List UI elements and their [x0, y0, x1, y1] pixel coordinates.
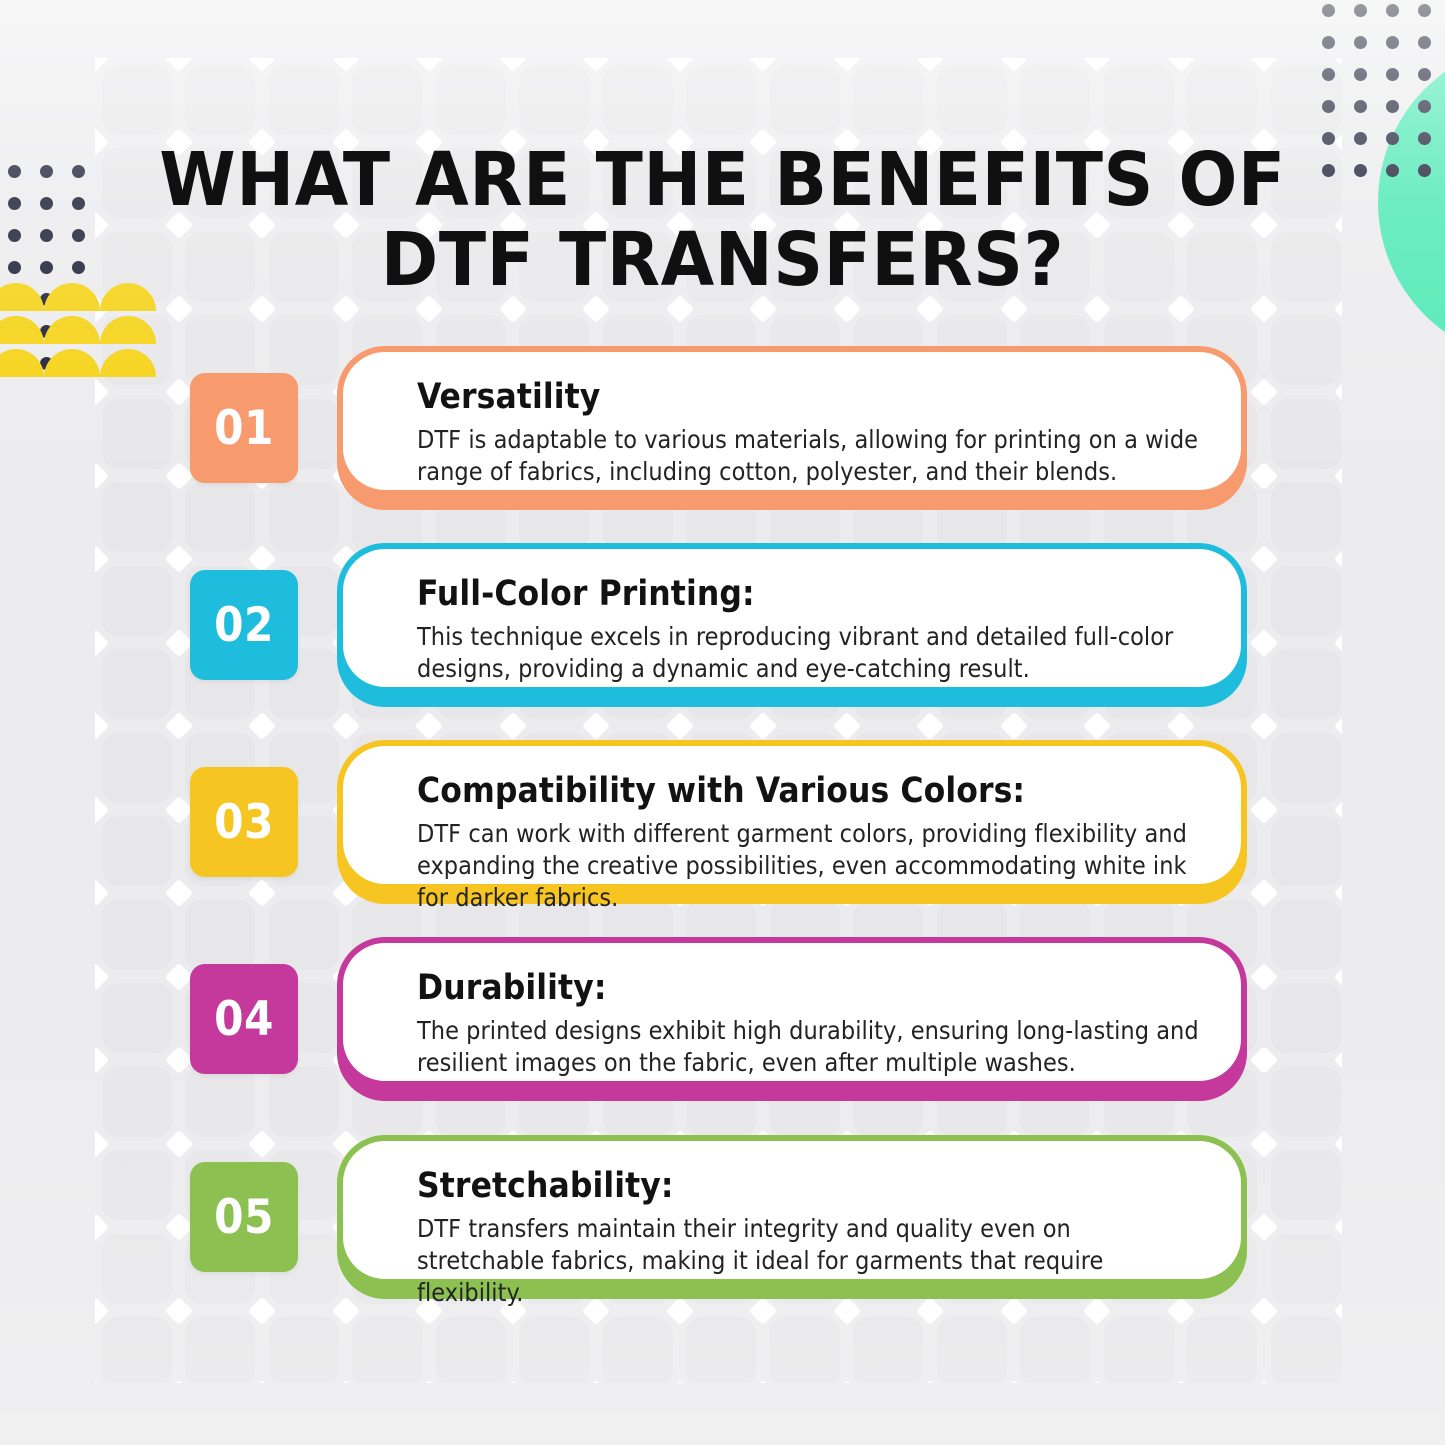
benefit-description: DTF transfers maintain their integrity a… — [417, 1213, 1201, 1309]
step-number-badge-02[interactable]: 02 — [190, 570, 298, 680]
benefit-row-02: 02Full-Color Printing:This technique exc… — [0, 543, 1445, 723]
benefit-title: Versatility — [417, 376, 1201, 418]
benefit-title: Full-Color Printing: — [417, 573, 1201, 615]
benefit-description: This technique excels in reproducing vib… — [417, 621, 1201, 685]
infographic-poster: WHAT ARE THE BENEFITS OF DTF TRANSFERS? … — [0, 0, 1445, 1445]
step-number-badge-04[interactable]: 04 — [190, 964, 298, 1074]
benefit-card-02[interactable]: Full-Color Printing:This technique excel… — [337, 543, 1247, 693]
benefit-row-01: 01VersatilityDTF is adaptable to various… — [0, 346, 1445, 526]
benefit-row-03: 03Compatibility with Various Colors:DTF … — [0, 740, 1445, 920]
benefit-card-03[interactable]: Compatibility with Various Colors:DTF ca… — [337, 740, 1247, 890]
benefit-description: DTF is adaptable to various materials, a… — [417, 424, 1201, 488]
step-number-badge-03[interactable]: 03 — [190, 767, 298, 877]
step-number-label: 03 — [214, 795, 274, 850]
benefit-row-04: 04Durability:The printed designs exhibit… — [0, 937, 1445, 1117]
benefit-description: The printed designs exhibit high durabil… — [417, 1015, 1201, 1079]
benefit-description: DTF can work with different garment colo… — [417, 818, 1201, 914]
benefit-card-list: 01VersatilityDTF is adaptable to various… — [0, 0, 1445, 1445]
step-number-badge-01[interactable]: 01 — [190, 373, 298, 483]
step-number-label: 05 — [214, 1190, 274, 1245]
step-number-badge-05[interactable]: 05 — [190, 1162, 298, 1272]
benefit-title: Compatibility with Various Colors: — [417, 770, 1201, 812]
benefit-card-01[interactable]: VersatilityDTF is adaptable to various m… — [337, 346, 1247, 496]
step-number-label: 04 — [214, 992, 274, 1047]
benefit-title: Stretchability: — [417, 1165, 1201, 1207]
benefit-card-05[interactable]: Stretchability:DTF transfers maintain th… — [337, 1135, 1247, 1285]
step-number-label: 02 — [214, 598, 274, 653]
benefit-row-05: 05Stretchability:DTF transfers maintain … — [0, 1135, 1445, 1315]
benefit-card-04[interactable]: Durability:The printed designs exhibit h… — [337, 937, 1247, 1087]
benefit-title: Durability: — [417, 967, 1201, 1009]
step-number-label: 01 — [214, 401, 274, 456]
